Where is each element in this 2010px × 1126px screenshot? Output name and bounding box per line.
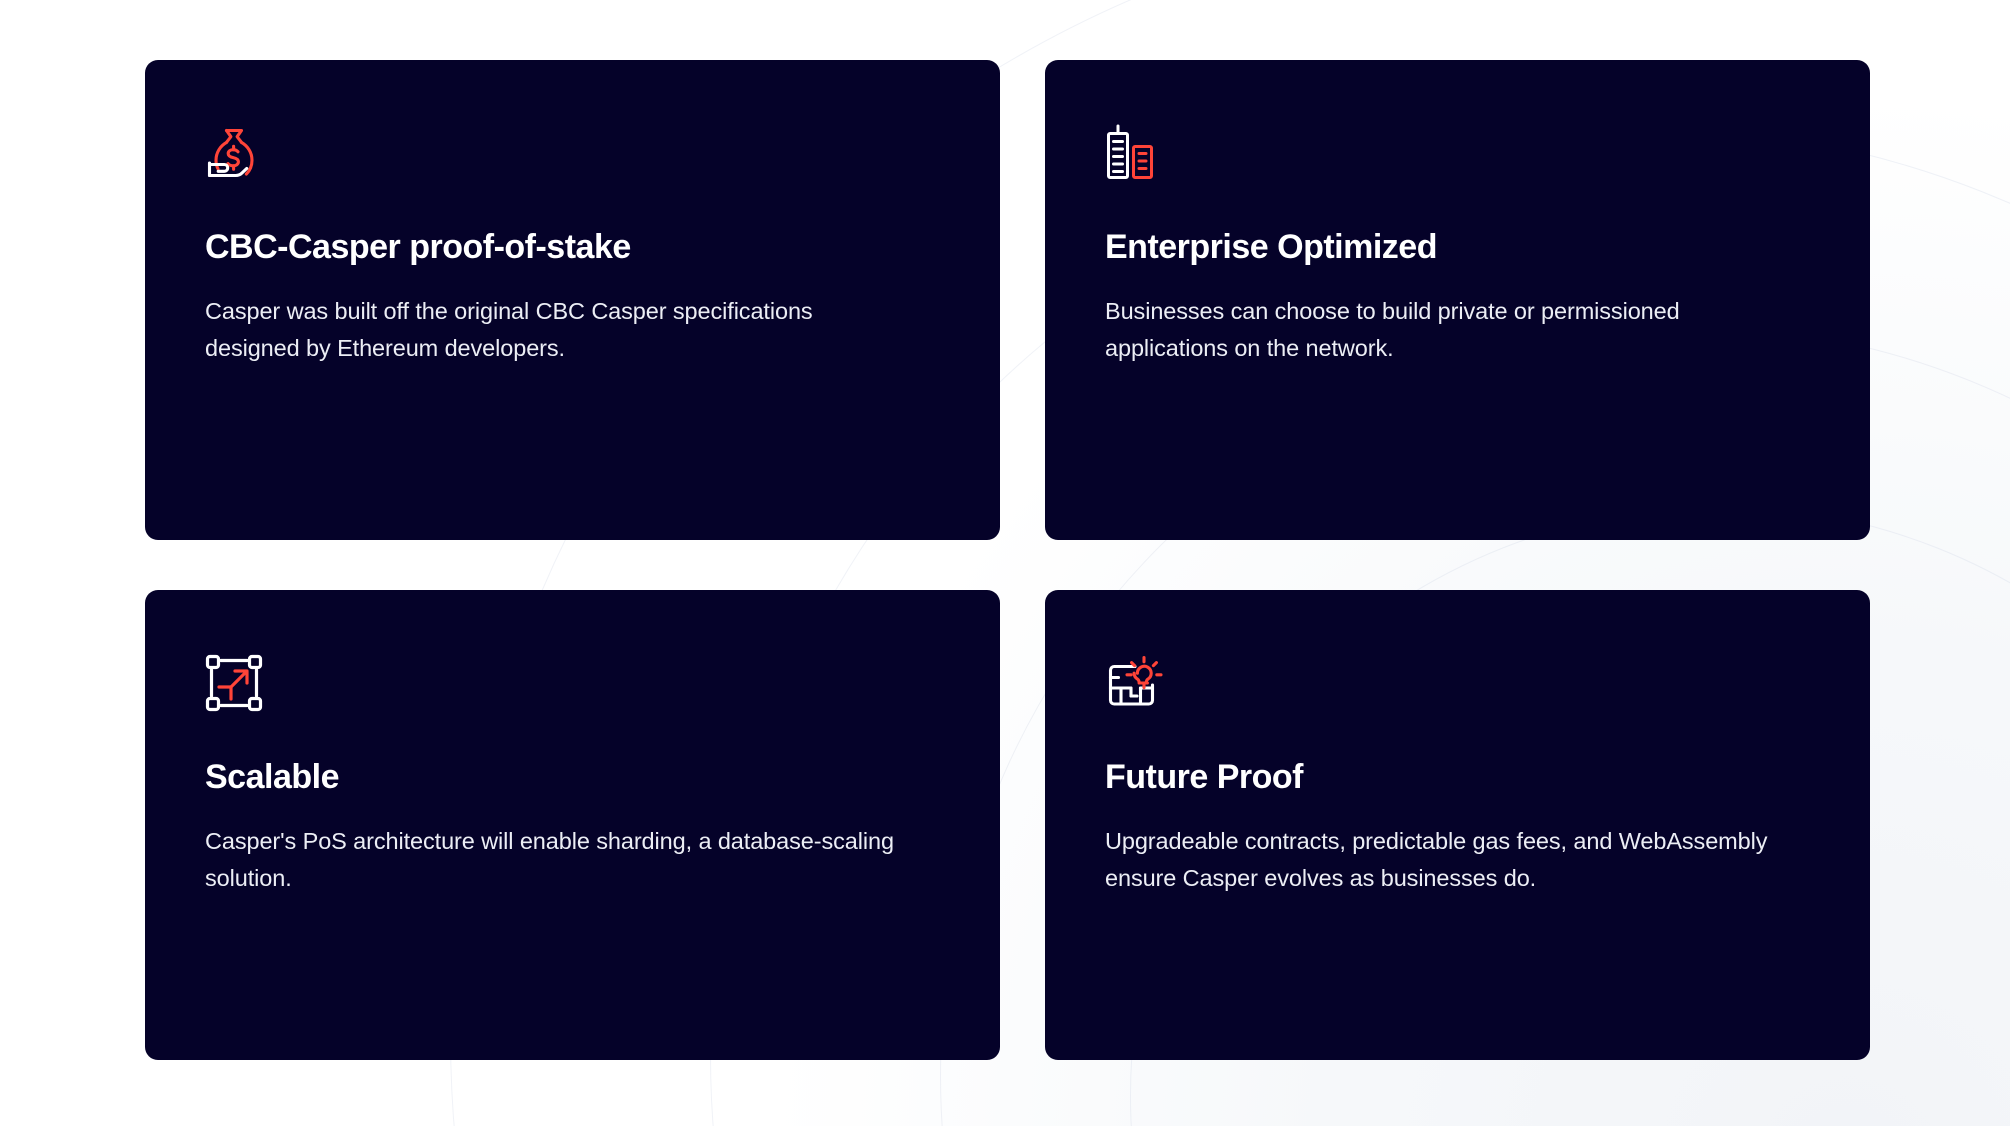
card-description: Casper was built off the original CBC Ca… — [205, 293, 905, 366]
scale-resize-arrow-icon — [205, 654, 263, 712]
card-description: Businesses can choose to build private o… — [1105, 293, 1795, 366]
card-description: Casper's PoS architecture will enable sh… — [205, 823, 905, 896]
card-title: Scalable — [205, 758, 940, 797]
feature-card-scalable[interactable]: Scalable Casper's PoS architecture will … — [145, 590, 1000, 1060]
money-bag-in-hand-icon — [205, 124, 263, 182]
card-title: Enterprise Optimized — [1105, 228, 1810, 267]
blueprint-lightbulb-icon — [1105, 654, 1163, 712]
feature-card-grid: CBC-Casper proof-of-stake Casper was bui… — [145, 60, 1870, 1060]
feature-card-cbc-casper[interactable]: CBC-Casper proof-of-stake Casper was bui… — [145, 60, 1000, 540]
card-title: CBC-Casper proof-of-stake — [205, 228, 940, 267]
card-description: Upgradeable contracts, predictable gas f… — [1105, 823, 1795, 896]
feature-card-future-proof[interactable]: Future Proof Upgradeable contracts, pred… — [1045, 590, 1870, 1060]
feature-card-enterprise-optimized[interactable]: Enterprise Optimized Businesses can choo… — [1045, 60, 1870, 540]
card-title: Future Proof — [1105, 758, 1810, 797]
office-buildings-icon — [1105, 124, 1163, 182]
